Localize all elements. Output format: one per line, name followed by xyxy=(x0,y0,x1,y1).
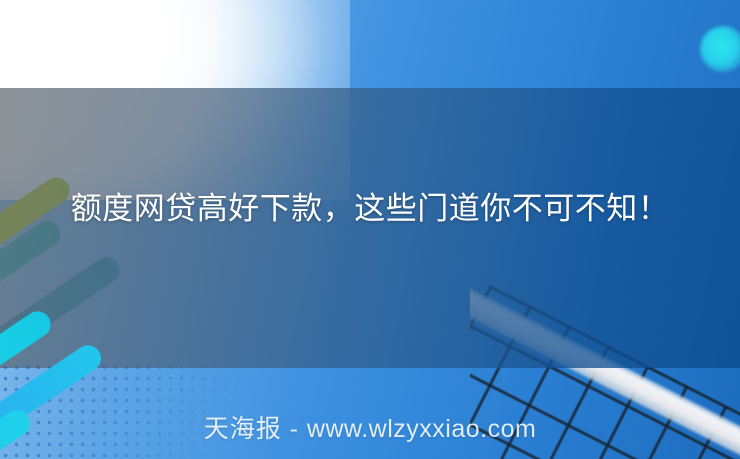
cyan-accent-dot-icon xyxy=(700,26,740,72)
promo-poster: 额度网贷高好下款，这些门道你不可不知！ 天海报 - www.wlzyxxiao.… xyxy=(0,0,740,459)
watermark-separator: - xyxy=(282,415,307,443)
poster-headline: 额度网贷高好下款，这些门道你不可不知！ xyxy=(44,186,696,232)
watermark-site: www.wlzyxxiao.com xyxy=(307,415,536,443)
watermark-brand: 天海报 xyxy=(204,415,282,443)
watermark: 天海报 - www.wlzyxxiao.com xyxy=(0,409,740,445)
